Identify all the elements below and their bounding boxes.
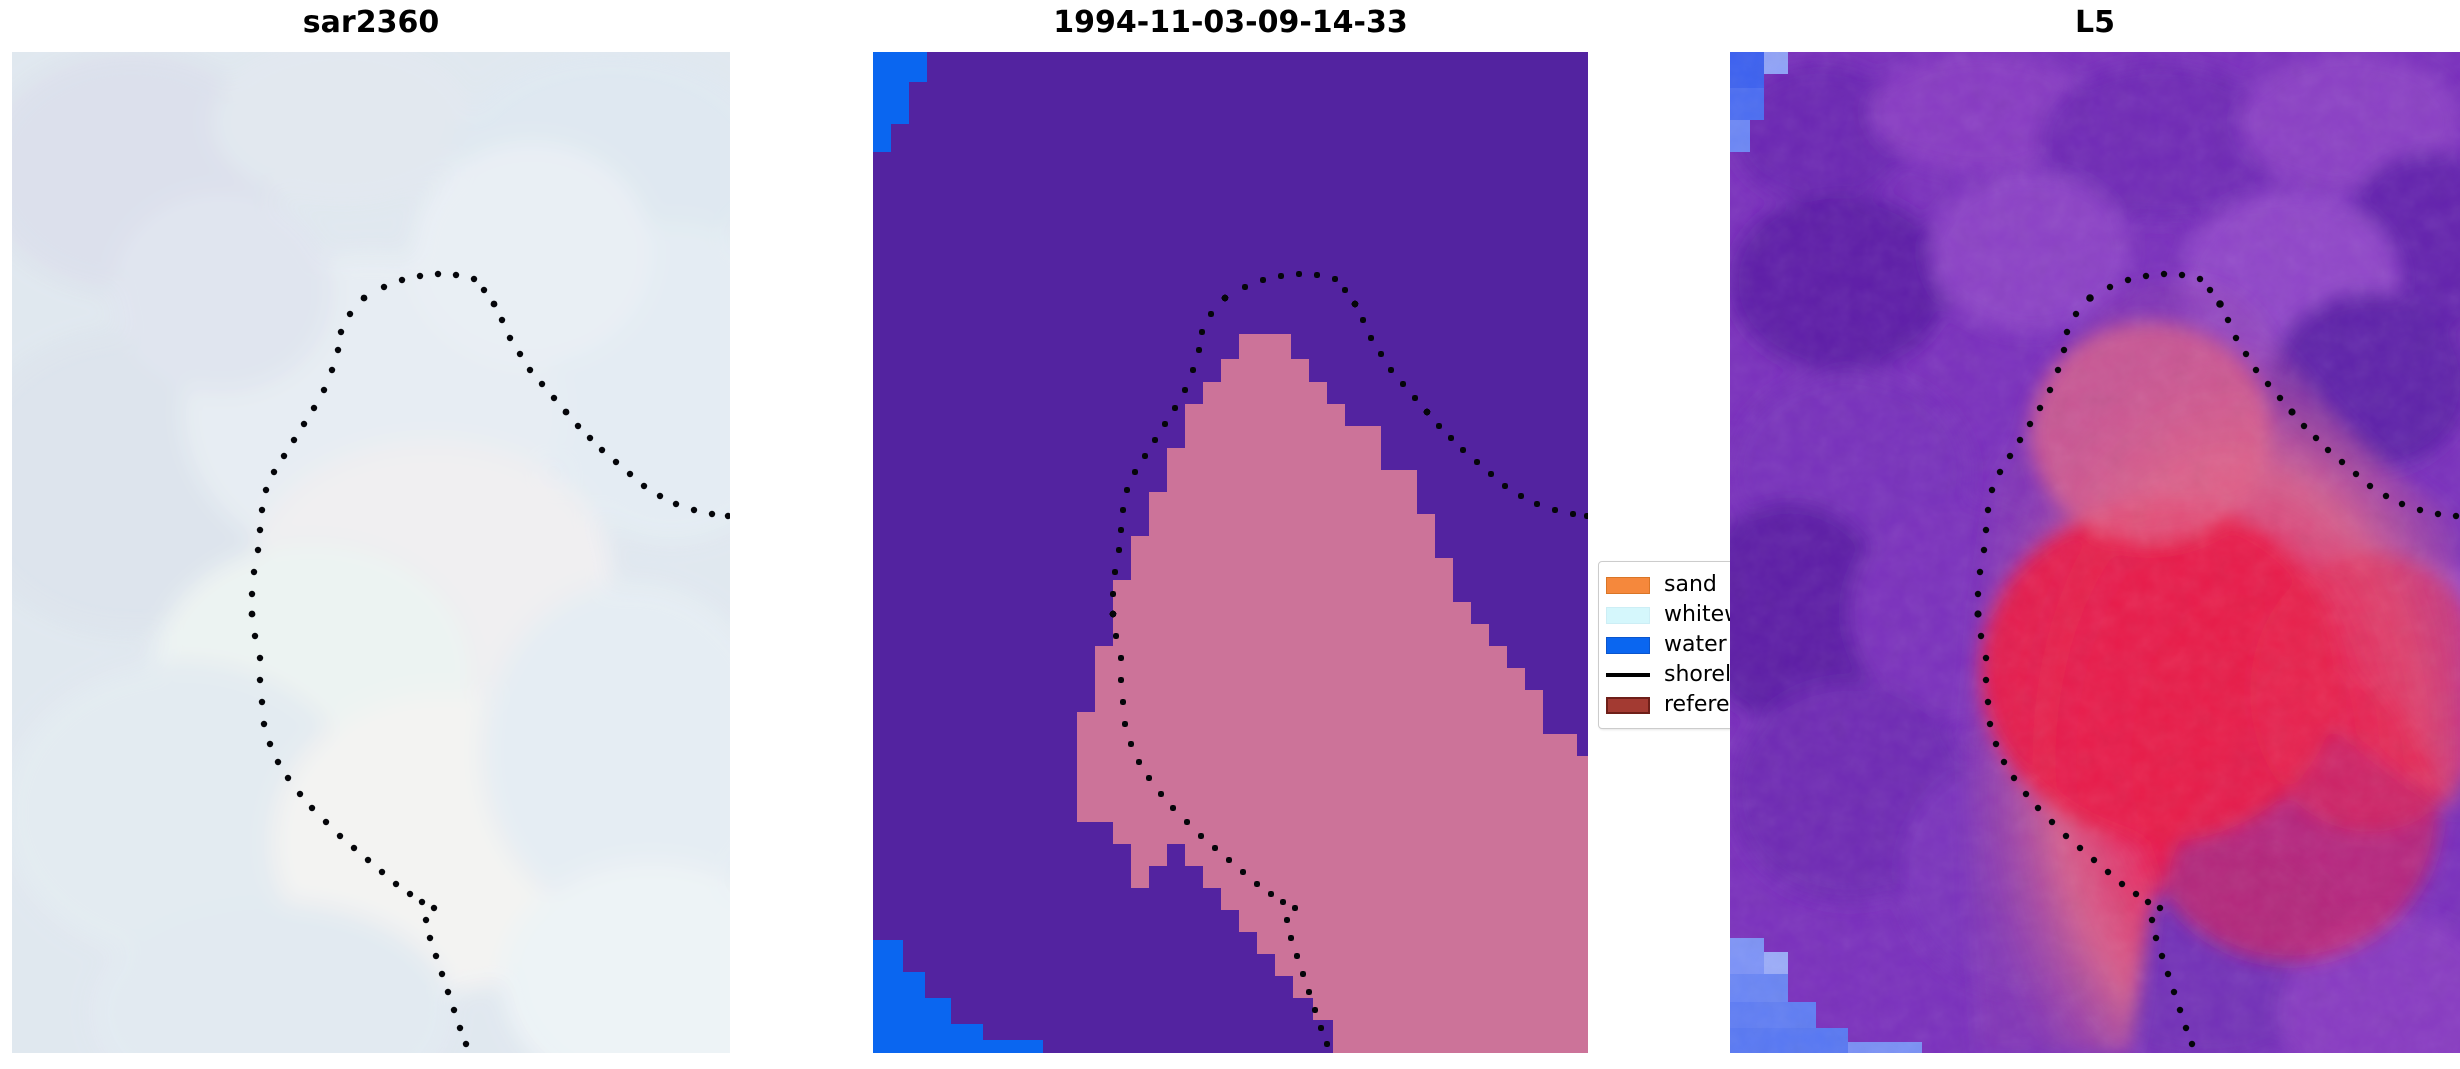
panel-classification[interactable] [873,52,1588,1053]
whitewater-swatch-icon [1606,607,1650,624]
shoreline-line-icon [1606,673,1650,677]
reference-shoreline-swatch-icon [1606,697,1650,714]
sand-swatch-icon [1606,577,1650,594]
l5-image [1730,52,2460,1053]
panel-l5[interactable] [1730,52,2460,1053]
water-swatch-icon [1606,637,1650,654]
legend-label-water: water [1664,634,1727,656]
figure-root: sar2360 [0,0,2460,1069]
sar-image [12,52,730,1053]
panel-title-l5: L5 [1730,8,2460,38]
panel-sar[interactable] [12,52,730,1053]
legend-label-sand: sand [1664,574,1717,596]
panel-title-sar: sar2360 [12,8,730,38]
panel-title-classification: 1994-11-03-09-14-33 [873,8,1588,38]
classification-image [873,52,1588,1053]
